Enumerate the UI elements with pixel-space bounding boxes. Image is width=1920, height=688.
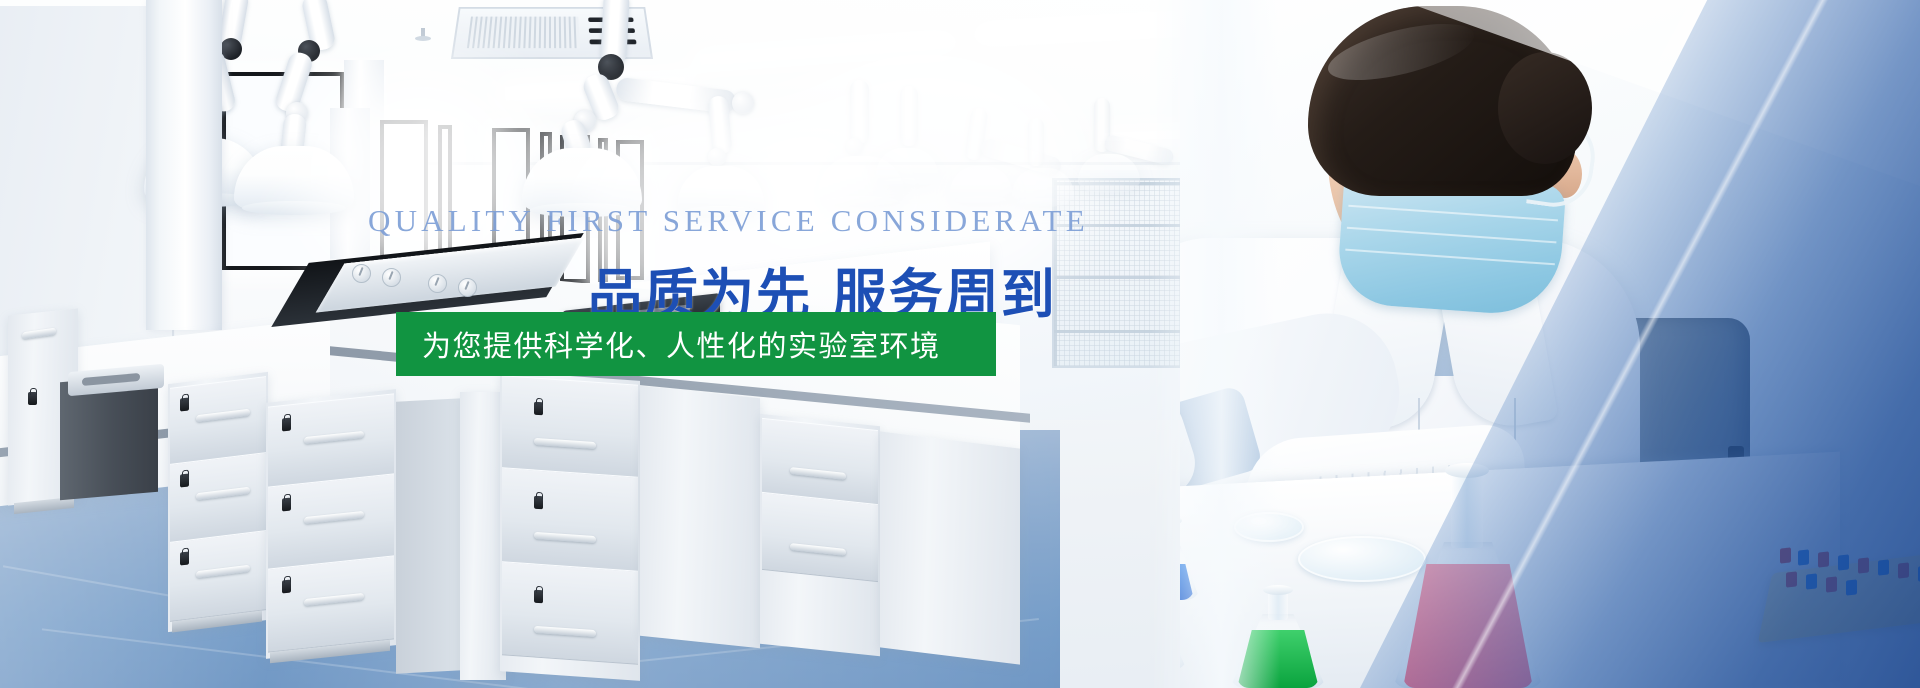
subtitle-green-bar: 为您提供科学化、人性化的实验室环境 <box>396 312 996 376</box>
lab-cabinet <box>880 431 1020 664</box>
drawer[interactable] <box>502 467 638 573</box>
structural-column <box>146 0 222 330</box>
hair-bun <box>1498 52 1592 164</box>
drawer[interactable] <box>170 376 266 466</box>
hero-banner: QUALITY FIRST SERVICE CONSIDERATE 品质为先 服… <box>0 0 1920 688</box>
cabinet-lock[interactable] <box>28 392 37 405</box>
drawer-lock[interactable] <box>180 551 189 565</box>
gas-tap-knob[interactable] <box>428 274 447 293</box>
drawer[interactable] <box>268 555 394 652</box>
drawer[interactable] <box>170 452 266 544</box>
drawer[interactable] <box>762 492 878 582</box>
drawer-lock[interactable] <box>180 473 189 487</box>
drawer-lock[interactable] <box>282 498 291 512</box>
lab-cabinet <box>640 386 760 649</box>
drawer-lock[interactable] <box>534 590 543 604</box>
subtitle-text: 为您提供科学化、人性化的实验室环境 <box>396 323 941 365</box>
photo-seam <box>1150 0 1280 688</box>
drawer[interactable] <box>502 375 638 479</box>
drawer-lock[interactable] <box>534 496 543 510</box>
fire-sprinkler <box>415 28 431 42</box>
drawer-lock[interactable] <box>180 397 189 411</box>
scientist-at-lab-bench-photo <box>1180 0 1920 688</box>
eyebrow-tagline-english: QUALITY FIRST SERVICE CONSIDERATE <box>368 203 1089 239</box>
drawer-lock[interactable] <box>282 580 291 594</box>
gas-tap-knob[interactable] <box>352 264 371 283</box>
cabinet-side-panel <box>396 398 462 673</box>
drawer[interactable] <box>170 530 266 622</box>
drawer[interactable] <box>268 473 394 570</box>
drawer-lock[interactable] <box>534 402 543 416</box>
gas-tap-knob[interactable] <box>382 268 401 287</box>
gas-tap-knob[interactable] <box>458 278 477 297</box>
drawer-lock[interactable] <box>282 418 291 432</box>
drawer[interactable] <box>502 561 638 665</box>
